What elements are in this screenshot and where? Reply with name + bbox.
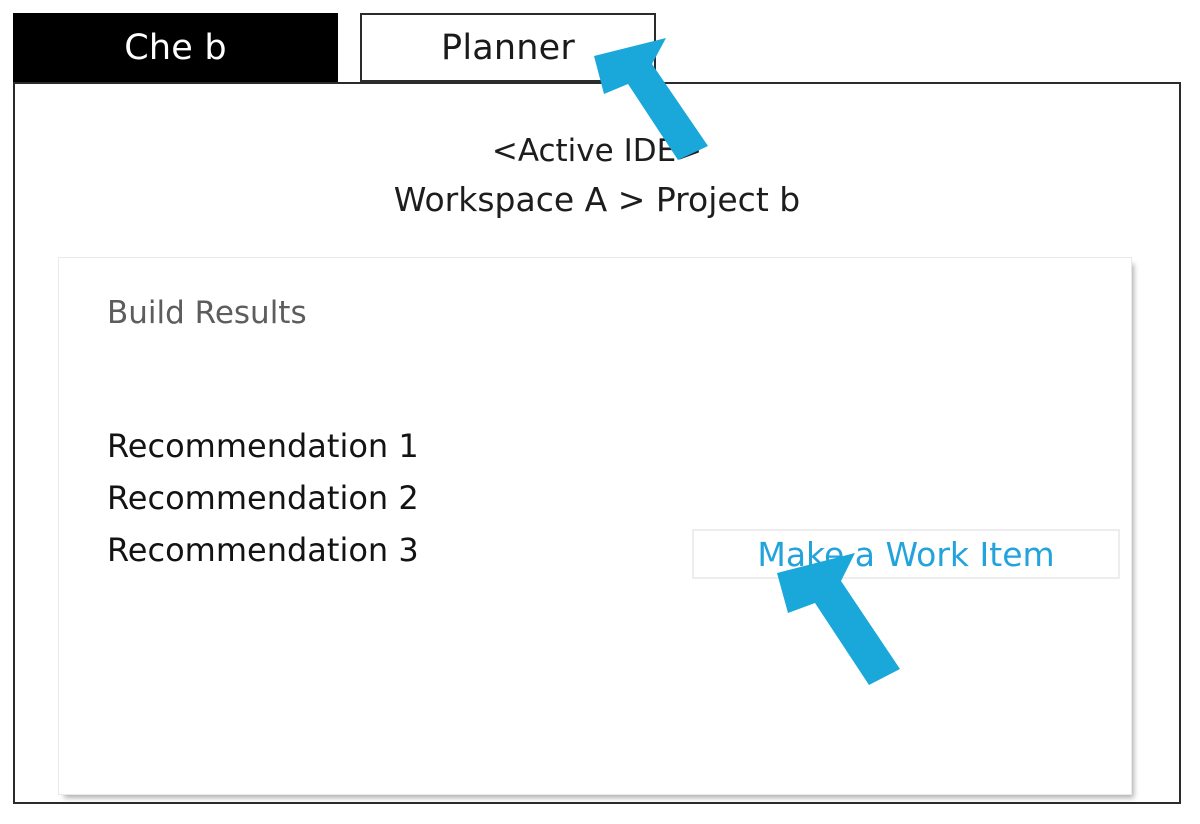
- list-item: Recommendation 2: [107, 472, 419, 524]
- active-ide-title: <Active IDE>: [15, 136, 1179, 167]
- list-item: Recommendation 1: [107, 420, 419, 472]
- recommendation-list: Recommendation 1 Recommendation 2 Recomm…: [107, 420, 419, 576]
- card-title: Build Results: [107, 295, 307, 331]
- make-a-work-item-button-label: Make a Work Item: [757, 535, 1054, 574]
- tab-strip: Che b Planner: [0, 0, 1200, 83]
- tab-planner[interactable]: Planner: [360, 13, 656, 82]
- make-a-work-item-button[interactable]: Make a Work Item: [692, 529, 1120, 579]
- ide-window-panel: <Active IDE> Workspace A > Project b Bui…: [13, 82, 1181, 804]
- breadcrumb: Workspace A > Project b: [15, 183, 1179, 216]
- tab-planner-label: Planner: [441, 28, 575, 68]
- tab-che-b[interactable]: Che b: [13, 13, 338, 82]
- build-results-card: Build Results Recommendation 1 Recommend…: [58, 257, 1132, 795]
- tab-che-b-label: Che b: [124, 28, 227, 68]
- header-block: <Active IDE> Workspace A > Project b: [15, 136, 1179, 216]
- list-item: Recommendation 3: [107, 524, 419, 576]
